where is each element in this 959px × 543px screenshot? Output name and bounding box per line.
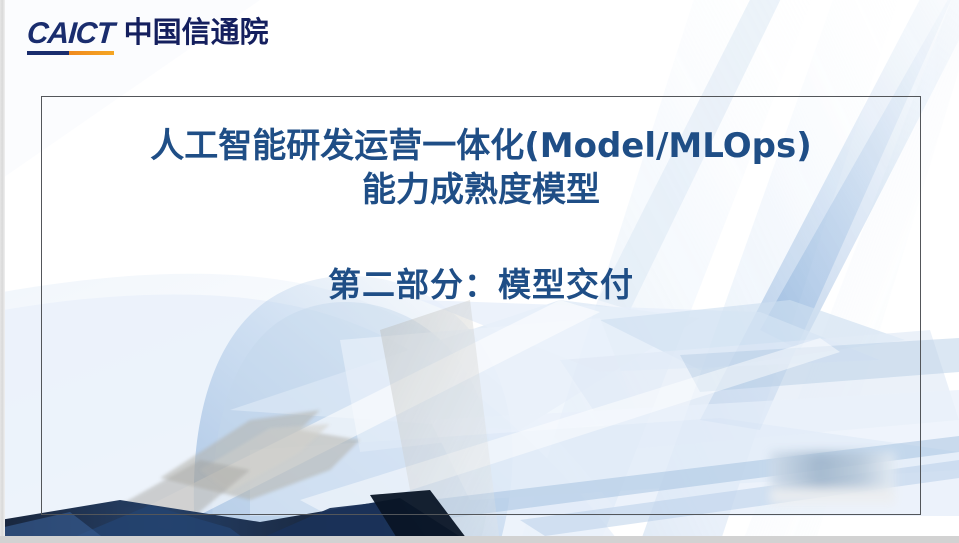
caict-logo-mark: CAICT xyxy=(27,19,114,56)
caict-logo[interactable]: CAICT 中国信通院 xyxy=(27,18,269,56)
caict-logo-underline xyxy=(27,51,114,55)
page-title-line-1: 人工智能研发运营一体化(Model/MLOps) xyxy=(150,126,812,166)
caict-logo-latin-text: CAICT xyxy=(26,19,115,49)
page-title: 人工智能研发运营一体化(Model/MLOps) 能力成熟度模型 xyxy=(41,125,921,212)
bottom-edge-strip xyxy=(0,536,959,543)
caict-logo-chinese-text: 中国信通院 xyxy=(124,18,269,56)
left-edge-strip xyxy=(0,0,5,543)
title-block: 人工智能研发运营一体化(Model/MLOps) 能力成熟度模型 第二部分：模型… xyxy=(41,125,921,306)
page-subtitle: 第二部分：模型交付 xyxy=(41,212,921,306)
page-title-line-2: 能力成熟度模型 xyxy=(41,169,921,213)
slide-canvas: CAICT 中国信通院 人工智能研发运营一体化(Model/MLOps) 能力成… xyxy=(0,0,959,543)
